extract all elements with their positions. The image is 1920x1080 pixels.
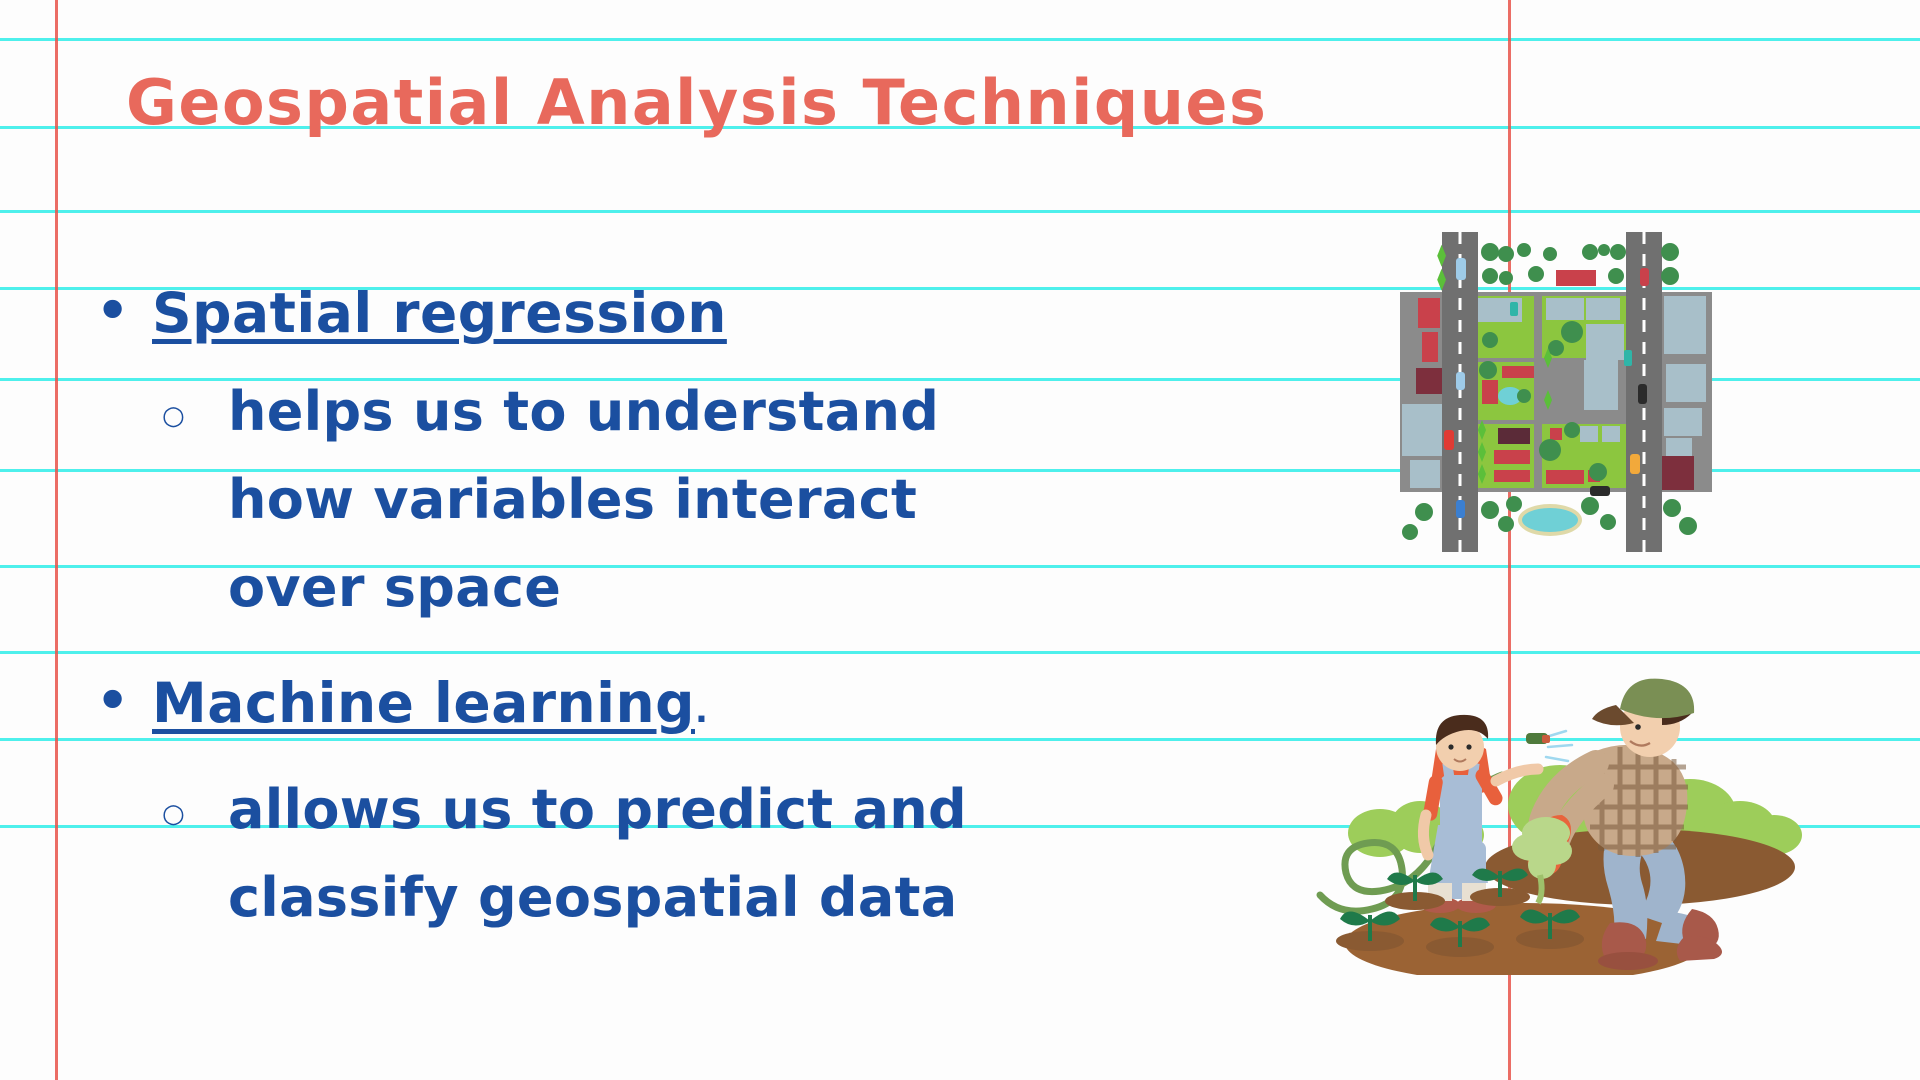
bullet-circle-icon: ○ (96, 766, 228, 862)
bullet-text: Machine learning. (152, 666, 708, 748)
bullet-disc-icon: • (96, 666, 152, 736)
sub-bullet-line: how variables interact (228, 456, 939, 544)
bullet-text-trailing: . (695, 691, 708, 731)
sub-bullet-line: classify geospatial data (228, 854, 967, 942)
bullet-disc-icon: • (96, 276, 152, 346)
bullet-text-underlined: Spatial regression (152, 281, 727, 345)
bullet-text-underlined: Machine learning (152, 671, 695, 735)
bullet-text: Spatial regression (152, 276, 727, 350)
aerial-city-map-illustration (1394, 232, 1718, 552)
sub-bullet-text: allows us to predict and classify geospa… (228, 766, 967, 942)
sub-bullet-line: over space (228, 544, 939, 632)
farming-people-illustration (1310, 655, 1810, 975)
list-item: • Machine learning. (96, 666, 1286, 748)
sub-bullet-line: helps us to understand (228, 368, 939, 456)
slide-canvas: Geospatial Analysis Techniques • Spatial… (0, 0, 1920, 1080)
bullet-list: • Spatial regression ○ helps us to under… (96, 276, 1286, 942)
left-margin-line (55, 0, 58, 1080)
rule-line (0, 38, 1920, 41)
rule-line (0, 210, 1920, 213)
sub-list-item: ○ allows us to predict and classify geos… (96, 766, 1286, 942)
list-item: • Spatial regression (96, 276, 1286, 350)
sub-bullet-line: allows us to predict and (228, 766, 967, 854)
bullet-circle-icon: ○ (96, 368, 228, 464)
page-title: Geospatial Analysis Techniques (126, 66, 1267, 139)
sub-bullet-text: helps us to understand how variables int… (228, 368, 939, 632)
sub-list-item: ○ helps us to understand how variables i… (96, 368, 1286, 632)
